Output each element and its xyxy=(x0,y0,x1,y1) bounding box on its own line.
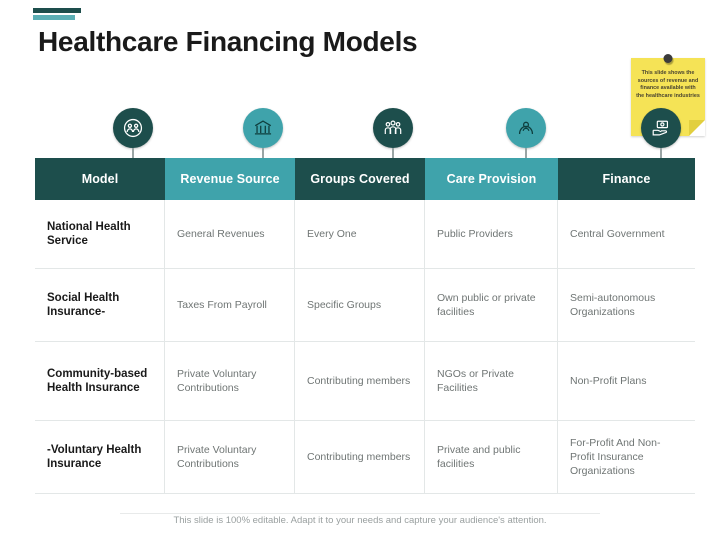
table-row: Social Health Insurance- Taxes From Payr… xyxy=(35,269,695,342)
column-header-groups-covered: Groups Covered xyxy=(295,158,425,200)
table-row: National Health Service General Revenues… xyxy=(35,200,695,269)
accent-bar-dark xyxy=(33,8,81,13)
family-care-icon xyxy=(113,108,153,148)
cell-finance: Non-Profit Plans xyxy=(558,342,695,420)
cell-model: -Voluntary Health Insurance xyxy=(35,421,165,493)
cell-care-provision: NGOs or Private Facilities xyxy=(425,342,558,420)
cell-finance: Semi-autonomous Organizations xyxy=(558,269,695,341)
finance-hand-money-icon xyxy=(641,108,681,148)
care-hands-icon xyxy=(506,108,546,148)
cell-care-provision: Own public or private facilities xyxy=(425,269,558,341)
table-row: -Voluntary Health Insurance Private Volu… xyxy=(35,421,695,494)
column-header-model: Model xyxy=(35,158,165,200)
icon-marker-row xyxy=(35,108,695,160)
table-body: National Health Service General Revenues… xyxy=(35,200,695,494)
financing-models-table: Model Revenue Source Groups Covered Care… xyxy=(35,158,695,494)
cell-groups-covered: Specific Groups xyxy=(295,269,425,341)
cell-groups-covered: Every One xyxy=(295,200,425,268)
cell-model: National Health Service xyxy=(35,200,165,268)
decorative-accent-bars xyxy=(33,8,81,20)
icon-marker-model xyxy=(111,108,155,160)
cell-care-provision: Public Providers xyxy=(425,200,558,268)
icon-marker-groups-covered xyxy=(371,108,415,160)
icon-marker-finance xyxy=(639,108,683,160)
pushpin-icon xyxy=(664,54,673,63)
cell-revenue-source: Taxes From Payroll xyxy=(165,269,295,341)
accent-bar-light xyxy=(33,15,75,20)
footer-note: This slide is 100% editable. Adapt it to… xyxy=(0,515,720,526)
icon-marker-care-provision xyxy=(504,108,548,160)
cell-model: Social Health Insurance- xyxy=(35,269,165,341)
cell-revenue-source: General Revenues xyxy=(165,200,295,268)
cell-model: Community-based Health Insurance xyxy=(35,342,165,420)
table-row: Community-based Health Insurance Private… xyxy=(35,342,695,421)
column-header-finance: Finance xyxy=(558,158,695,200)
footer-divider xyxy=(120,513,600,514)
cell-finance: For-Profit And Non-Profit Insurance Orga… xyxy=(558,421,695,493)
column-header-care-provision: Care Provision xyxy=(425,158,558,200)
cell-revenue-source: Private Voluntary Contributions xyxy=(165,421,295,493)
slide-canvas: Healthcare Financing Models This slide s… xyxy=(0,0,720,539)
table-header-row: Model Revenue Source Groups Covered Care… xyxy=(35,158,695,200)
bank-building-icon xyxy=(243,108,283,148)
cell-care-provision: Private and public facilities xyxy=(425,421,558,493)
icon-marker-revenue-source xyxy=(241,108,285,160)
cell-finance: Central Government xyxy=(558,200,695,268)
cell-groups-covered: Contributing members xyxy=(295,421,425,493)
people-group-icon xyxy=(373,108,413,148)
cell-groups-covered: Contributing members xyxy=(295,342,425,420)
column-header-revenue-source: Revenue Source xyxy=(165,158,295,200)
sticky-note-text: This slide shows the sources of revenue … xyxy=(636,70,700,100)
page-title: Healthcare Financing Models xyxy=(38,26,417,58)
cell-revenue-source: Private Voluntary Contributions xyxy=(165,342,295,420)
